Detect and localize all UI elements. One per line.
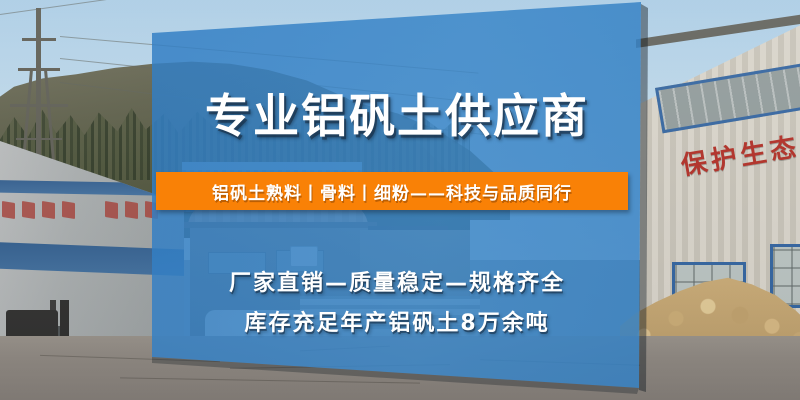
promo-banner-image: 保护生态 专业铝矾土供应商 铝矾土熟料丨骨料丨细粉——科技与品质同行 厂家直销—… — [0, 0, 800, 400]
banner-text-block: 专业铝矾土供应商 铝矾土熟料丨骨料丨细粉——科技与品质同行 厂家直销—质量稳定—… — [152, 0, 642, 400]
tagline-line-1: 厂家直销—质量稳定—规格齐全 — [152, 265, 642, 297]
orange-subtitle-bar: 铝矾土熟料丨骨料丨细粉——科技与品质同行 — [156, 172, 628, 210]
orange-subtitle-text: 铝矾土熟料丨骨料丨细粉——科技与品质同行 — [212, 179, 572, 204]
banner-headline: 专业铝矾土供应商 — [152, 80, 642, 146]
tagline-line-2: 库存充足年产铝矾土8万余吨 — [152, 305, 642, 337]
